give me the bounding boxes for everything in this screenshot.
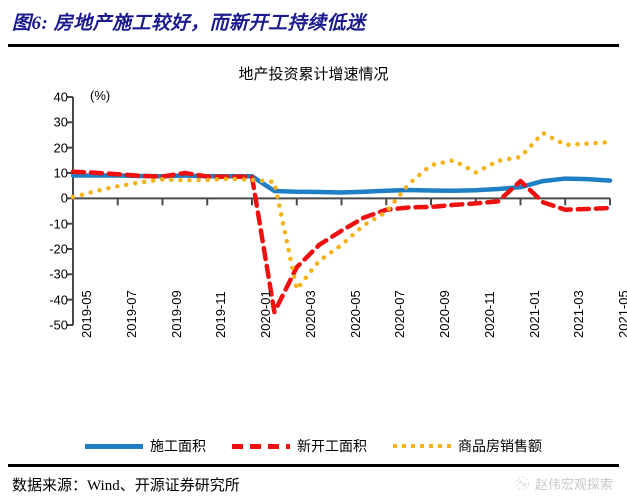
data-source-note: 数据来源：Wind、开源证券研究所 xyxy=(12,474,240,495)
y-axis-unit-label: (%) xyxy=(90,88,110,103)
y-axis-tick: -10 xyxy=(30,216,68,231)
x-axis-tick: 2020-09 xyxy=(437,290,452,338)
x-axis-tick: 2020-05 xyxy=(348,290,363,338)
legend-label: 商品房销售额 xyxy=(458,436,542,456)
x-axis-tick: 2020-07 xyxy=(392,290,407,338)
x-axis-tick: 2020-11 xyxy=(482,291,497,338)
legend-label: 施工面积 xyxy=(150,436,206,456)
title-divider xyxy=(8,44,619,47)
x-axis-tick: 2020-01 xyxy=(258,290,273,338)
x-axis-tick: 2021-03 xyxy=(571,290,586,338)
x-axis-tick: 2021-05 xyxy=(616,290,627,338)
legend-item-2[interactable]: 商品房销售额 xyxy=(393,436,542,456)
x-axis-tick: 2019-07 xyxy=(124,290,139,338)
y-axis-tick: 30 xyxy=(30,115,68,130)
page-title: 图6: 房地产施工较好，而新开工持续低迷 xyxy=(12,8,366,35)
y-axis-tick: -20 xyxy=(30,242,68,257)
legend-swatch-icon xyxy=(393,444,451,448)
y-axis-tick-labels: 403020100-10-20-30-40-50 xyxy=(26,85,68,335)
series-line-dotted xyxy=(73,133,610,289)
y-axis-tick: -40 xyxy=(30,292,68,307)
y-axis-tick: 40 xyxy=(30,90,68,105)
y-axis-tick: -50 xyxy=(30,318,68,333)
legend-item-0[interactable]: 施工面积 xyxy=(85,436,206,456)
legend-label: 新开工面积 xyxy=(297,436,367,456)
x-axis-tick-labels: 2019-052019-072019-092019-112020-012020-… xyxy=(0,336,627,428)
legend-swatch-icon xyxy=(85,444,143,449)
footer-divider xyxy=(8,464,619,467)
chart-title: 地产投资累计增速情况 xyxy=(0,63,627,84)
x-axis-tick: 2021-01 xyxy=(527,290,542,338)
watermark-label: 赵伟宏观探索 xyxy=(535,474,613,493)
watermark: 赵伟宏观探索 xyxy=(515,474,613,493)
y-axis-tick: 0 xyxy=(30,191,68,206)
y-axis-tick: 10 xyxy=(30,166,68,181)
x-axis-tick: 2020-03 xyxy=(303,290,318,338)
chart-legend: 施工面积新开工面积商品房销售额 xyxy=(0,432,627,460)
y-axis-tick: -30 xyxy=(30,267,68,282)
legend-item-1[interactable]: 新开工面积 xyxy=(232,436,367,456)
y-axis-tick: 20 xyxy=(30,140,68,155)
x-axis-tick: 2019-09 xyxy=(169,290,184,338)
legend-swatch-icon xyxy=(232,444,290,449)
x-axis-tick: 2019-05 xyxy=(79,290,94,338)
watermark-logo-icon xyxy=(515,476,530,491)
x-axis-tick: 2019-11 xyxy=(213,291,228,338)
